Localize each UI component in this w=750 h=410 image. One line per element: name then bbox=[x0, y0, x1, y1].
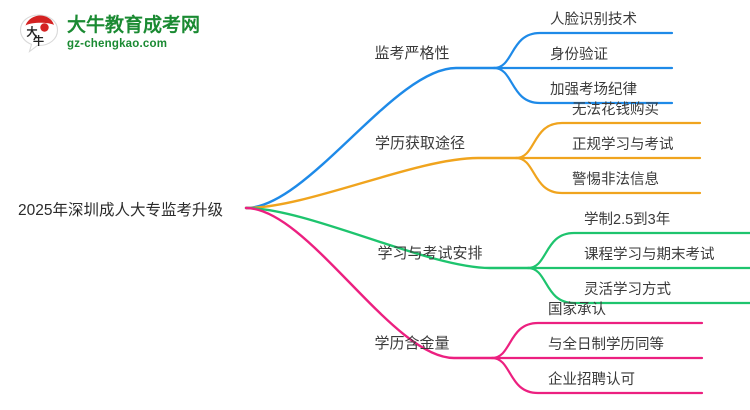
leaf-label-2-0: 学制2.5到3年 bbox=[584, 208, 670, 229]
branch-label-1: 学历获取途径 bbox=[375, 132, 465, 153]
leaf-label-3-2: 企业招聘认可 bbox=[548, 368, 635, 389]
root-node-label: 2025年深圳成人大专监考升级 bbox=[18, 198, 223, 220]
leaf-label-2-1: 课程学习与期末考试 bbox=[584, 243, 715, 264]
leaf-label-0-2: 加强考场纪律 bbox=[550, 78, 637, 99]
leaf-label-1-0: 无法花钱购买 bbox=[572, 98, 659, 119]
branch-trunk-1 bbox=[246, 158, 516, 208]
branch-label-0: 监考严格性 bbox=[374, 42, 449, 63]
leaf-label-0-1: 身份验证 bbox=[550, 43, 608, 64]
leaf-label-0-0: 人脸识别技术 bbox=[550, 8, 637, 29]
leaf-label-1-2: 警惕非法信息 bbox=[572, 168, 659, 189]
leaf-label-3-1: 与全日制学历同等 bbox=[548, 333, 664, 354]
branch-label-2: 学习与考试安排 bbox=[377, 242, 482, 263]
leaf-label-1-1: 正规学习与考试 bbox=[572, 133, 674, 154]
leaf-label-3-0: 国家承认 bbox=[548, 298, 606, 319]
branch-trunk-3 bbox=[246, 208, 492, 358]
branch-label-3: 学历含金量 bbox=[374, 332, 449, 353]
leaf-label-2-2: 灵活学习方式 bbox=[584, 278, 671, 299]
